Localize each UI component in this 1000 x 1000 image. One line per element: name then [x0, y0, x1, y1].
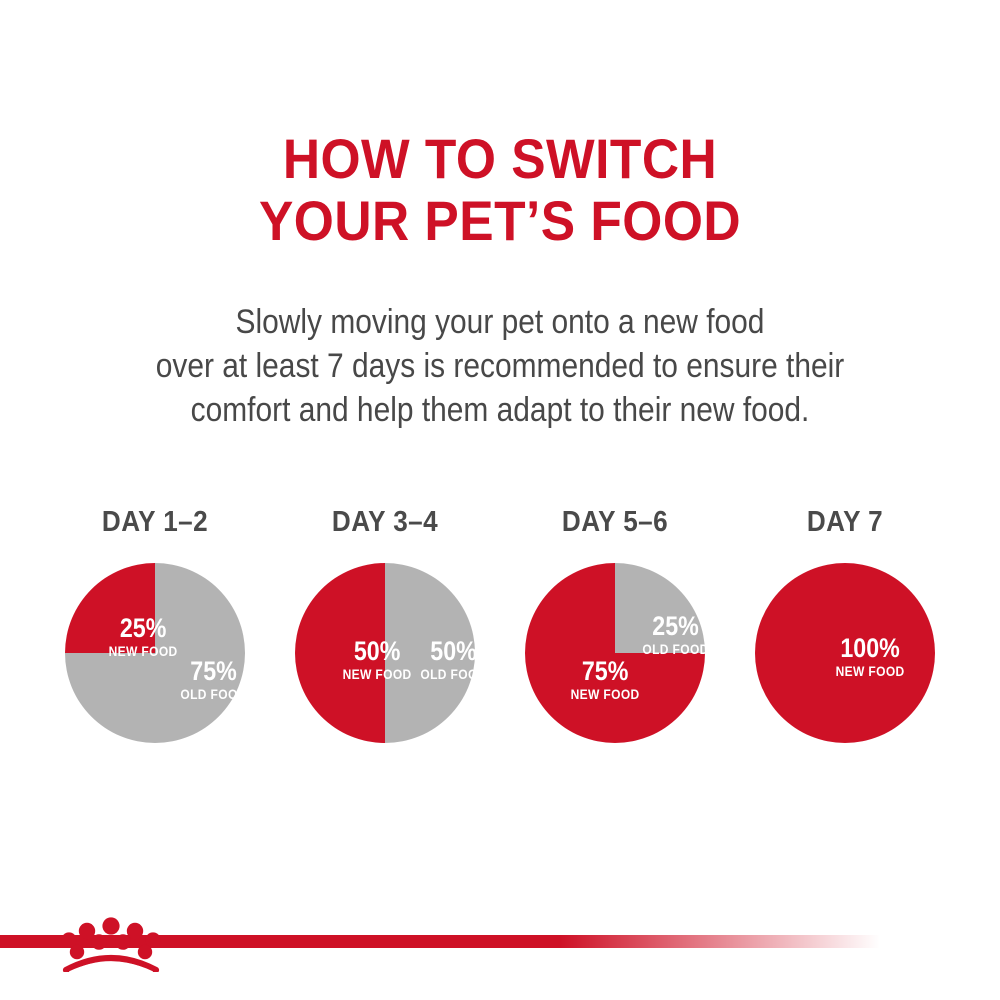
pie-svg — [65, 563, 245, 743]
day-label: DAY 1–2 — [52, 505, 259, 539]
pie-slice-new-food — [295, 563, 385, 743]
title-line-1: HOW TO SWITCH — [40, 128, 960, 190]
subtitle-line-3: comfort and help them adapt to their new… — [60, 388, 940, 432]
pie-graphic: 50%NEW FOOD50%OLD FOOD — [295, 563, 475, 743]
pie-chart-1: DAY 1–225%NEW FOOD75%OLD FOOD — [40, 505, 270, 765]
pie-chart-row: DAY 1–225%NEW FOOD75%OLD FOODDAY 3–450%N… — [0, 505, 1000, 765]
subtitle-line-2: over at least 7 days is recommended to e… — [60, 344, 940, 388]
title-line-2: YOUR PET’S FOOD — [40, 190, 960, 252]
pie-svg — [295, 563, 475, 743]
subtitle-line-1: Slowly moving your pet onto a new food — [60, 300, 940, 344]
infographic-page: HOW TO SWITCH YOUR PET’S FOOD Slowly mov… — [0, 0, 1000, 1000]
pie-slice-old-food — [385, 563, 475, 743]
pie-slice-new-food — [65, 563, 155, 653]
pie-chart-4: DAY 7100%NEW FOOD — [730, 505, 960, 765]
pie-chart-3: DAY 5–675%NEW FOOD25%OLD FOOD — [500, 505, 730, 765]
page-title: HOW TO SWITCH YOUR PET’S FOOD — [0, 128, 1000, 252]
pie-chart-2: DAY 3–450%NEW FOOD50%OLD FOOD — [270, 505, 500, 765]
royal-canin-crown-logo — [56, 910, 166, 972]
pie-slice-new-food — [755, 563, 935, 743]
pie-graphic: 100%NEW FOOD — [755, 563, 935, 743]
subtitle-paragraph: Slowly moving your pet onto a new food o… — [0, 300, 1000, 432]
day-label: DAY 7 — [742, 505, 949, 539]
pie-svg — [525, 563, 705, 743]
pie-graphic: 25%NEW FOOD75%OLD FOOD — [65, 563, 245, 743]
pie-graphic: 75%NEW FOOD25%OLD FOOD — [525, 563, 705, 743]
footer — [0, 900, 1000, 1000]
day-label: DAY 3–4 — [282, 505, 489, 539]
pie-slice-old-food — [615, 563, 705, 653]
day-label: DAY 5–6 — [512, 505, 719, 539]
pie-svg — [755, 563, 935, 743]
